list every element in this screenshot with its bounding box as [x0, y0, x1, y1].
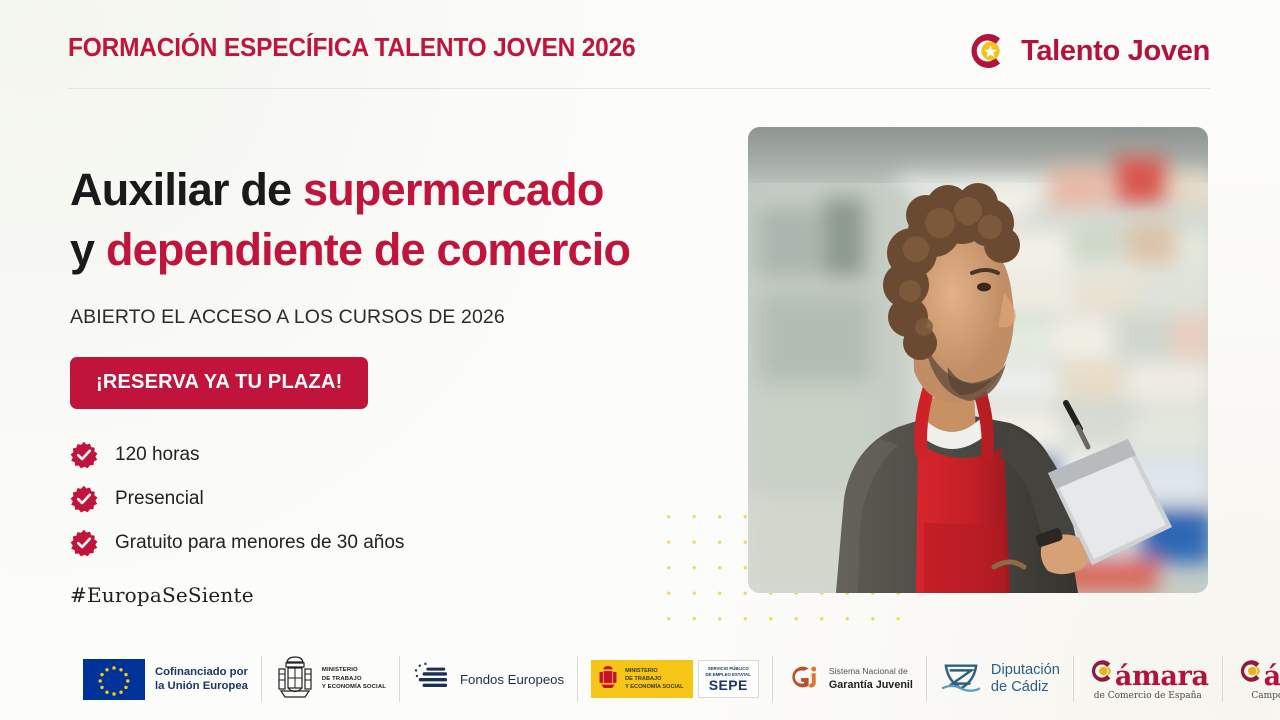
logo-fondos-europeos-label: Fondos Europeos	[460, 672, 564, 687]
logo-diputacion-cadiz: Diputación de Cádiz	[926, 656, 1073, 702]
title-part-4: dependiente de comercio	[106, 224, 630, 275]
feature-label: 120 horas	[115, 444, 200, 466]
logo-eu-cofinanciado: Cofinanciado por la Unión Europea	[70, 656, 261, 702]
logo-eu-text: Cofinanciado por la Unión Europea	[155, 665, 248, 694]
feature-label: Presencial	[115, 488, 204, 510]
promotional-banner: FORMACIÓN ESPECÍFICA TALENTO JOVEN 2026 …	[0, 0, 1280, 720]
camara-espana-sub: de Comercio de España	[1094, 692, 1202, 701]
eu-flag-icon	[83, 659, 145, 700]
talento-joven-logo: Talento Joven	[965, 30, 1210, 72]
logo-ministerio-line1: MINISTERIO	[322, 666, 386, 675]
camara-espana-wordmark: ámara	[1087, 657, 1209, 690]
hero-photo	[748, 127, 1208, 593]
hashtag: #EuropaSeSiente	[70, 583, 730, 607]
brand-name: Talento Joven	[1021, 35, 1210, 68]
check-badge-icon	[70, 485, 98, 513]
footer-logo-bar: Cofinanciado por la Unión Europea	[70, 652, 1218, 706]
camara-gibraltar-sub: Campo de Gibraltar	[1251, 692, 1280, 701]
eyebrow-title: FORMACIÓN ESPECÍFICA TALENTO JOVEN 2026	[68, 34, 635, 63]
sepe-ministry-text: MINISTERIO DE TRABAJO Y ECONOMÍA SOCIAL	[625, 667, 683, 691]
spain-coat-of-arms-icon	[275, 655, 315, 704]
logo-garantia-juvenil: Sistema Nacional de Garantía Juvenil	[772, 656, 926, 702]
banner-header: FORMACIÓN ESPECÍFICA TALENTO JOVEN 2026 …	[68, 30, 1210, 82]
sepe-ministry-line1: MINISTERIO	[625, 667, 683, 675]
sepe-ministry-line2: DE TRABAJO	[625, 675, 683, 683]
logo-camara-espana: ámara de Comercio de España	[1073, 656, 1222, 702]
diputacion-cadiz-wave-icon	[940, 660, 982, 699]
logo-fondos-europeos: Fondos Europeos	[399, 656, 577, 702]
logo-diputacion-line1: Diputación	[991, 662, 1060, 680]
camara-c-icon	[1236, 657, 1264, 685]
title-part-1: Auxiliar de	[70, 164, 303, 215]
sepe-ministry-block: MINISTERIO DE TRABAJO Y ECONOMÍA SOCIAL	[591, 660, 692, 698]
logo-ministerio-line3: Y ECONOMÍA SOCIAL	[322, 683, 386, 692]
header-divider	[68, 88, 1210, 89]
sepe-ministry-line3: Y ECONOMÍA SOCIAL	[625, 683, 683, 691]
logo-eu-line2: la Unión Europea	[155, 679, 248, 693]
sepe-wordmark: SEPE	[709, 678, 748, 692]
logo-gj-line1: Sistema Nacional de	[829, 666, 913, 678]
spain-flag-shield-icon	[597, 664, 619, 695]
title-part-3: y	[70, 224, 106, 275]
list-item: Gratuito para menores de 30 años	[70, 529, 730, 557]
fondos-europeos-bars-icon	[413, 661, 451, 698]
logo-diputacion-line2: de Cádiz	[991, 679, 1060, 697]
logo-ministerio-text: MINISTERIO DE TRABAJO Y ECONOMÍA SOCIAL	[322, 666, 386, 692]
feature-list: 120 horas Presencial Gra	[70, 441, 730, 557]
logo-diputacion-text: Diputación de Cádiz	[991, 662, 1060, 697]
camara-espana-word: ámara	[1115, 663, 1209, 690]
list-item: Presencial	[70, 485, 730, 513]
sepe-box: SERVICIO PÚBLICO DE EMPLEO ESTATAL SEPE	[698, 660, 759, 698]
logo-eu-line1: Cofinanciado por	[155, 665, 248, 679]
reserve-spot-button[interactable]: ¡RESERVA YA TU PLAZA!	[70, 357, 368, 409]
list-item: 120 horas	[70, 441, 730, 469]
check-badge-icon	[70, 529, 98, 557]
logo-sepe: MINISTERIO DE TRABAJO Y ECONOMÍA SOCIAL …	[577, 656, 772, 702]
logo-camara-gibraltar: ámara Campo de Gibraltar	[1222, 656, 1280, 702]
feature-label: Gratuito para menores de 30 años	[115, 532, 404, 554]
camara-gibraltar-wordmark: ámara	[1236, 657, 1280, 690]
page-title: Auxiliar de supermercado y dependiente d…	[70, 160, 730, 280]
logo-ministerio-trabajo: MINISTERIO DE TRABAJO Y ECONOMÍA SOCIAL	[261, 656, 399, 702]
logo-garantia-juvenil-text: Sistema Nacional de Garantía Juvenil	[829, 666, 913, 692]
talento-joven-c-star-logo-icon	[965, 30, 1007, 72]
title-part-2: supermercado	[303, 164, 604, 215]
camara-gibraltar-word: ámara	[1264, 663, 1280, 690]
camara-c-icon	[1087, 657, 1115, 685]
main-content: Auxiliar de supermercado y dependiente d…	[70, 160, 730, 607]
subtitle: ABIERTO EL ACCESO A LOS CURSOS DE 2026	[70, 306, 730, 329]
logo-ministerio-line2: DE TRABAJO	[322, 675, 386, 684]
sepe-logo-icon: MINISTERIO DE TRABAJO Y ECONOMÍA SOCIAL …	[591, 660, 759, 698]
logo-gj-line2: Garantía Juvenil	[829, 678, 913, 692]
garantia-juvenil-gj-icon	[786, 661, 820, 698]
check-badge-icon	[70, 441, 98, 469]
